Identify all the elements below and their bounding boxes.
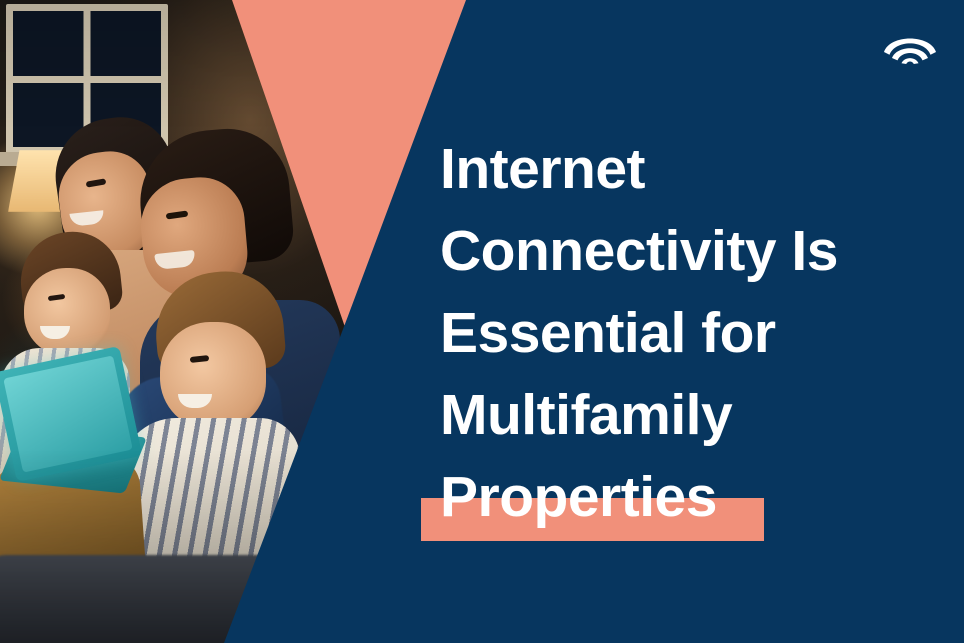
headline-line-2: Connectivity Is xyxy=(440,210,910,292)
headline-line-5: Properties xyxy=(440,456,910,538)
page-title: Internet Connectivity Is Essential for M… xyxy=(440,128,910,538)
headline-line-1: Internet xyxy=(440,128,910,210)
headline-line-3: Essential for xyxy=(440,292,910,374)
headline-line-4: Multifamily xyxy=(440,374,910,456)
headline-line-2-text: Connectivity Is xyxy=(440,219,838,283)
wifi-arc-logo[interactable] xyxy=(882,28,938,64)
headline-line-3-text: Essential for xyxy=(440,301,776,365)
headline-line-5-text: Properties xyxy=(440,465,717,529)
headline-line-4-text: Multifamily xyxy=(440,383,732,447)
headline-line-1-text: Internet xyxy=(440,137,645,201)
slide-canvas: Internet Connectivity Is Essential for M… xyxy=(0,0,964,643)
